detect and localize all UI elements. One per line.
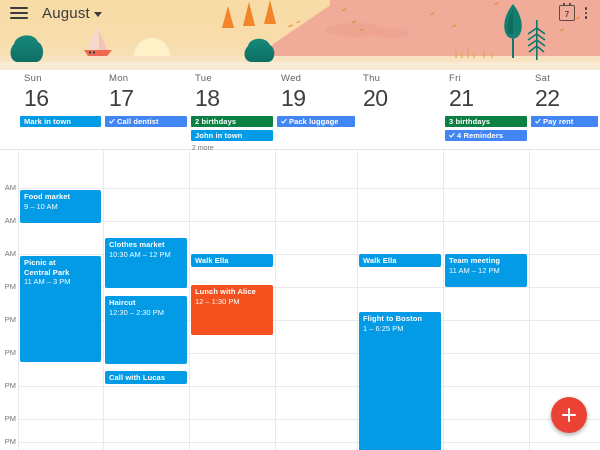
hour-gridline [18, 419, 600, 420]
hour-gridline [18, 221, 600, 222]
day-of-week-label: Sun [24, 70, 103, 85]
all-day-more-link[interactable]: 2 more [192, 145, 214, 152]
calendar-event[interactable]: Lunch with Alice12 – 1:30 PM [191, 285, 273, 335]
time-axis-label: AM [0, 250, 16, 258]
day-header-fri[interactable]: Fri21 [443, 70, 529, 112]
day-of-week-label: Mon [109, 70, 189, 85]
day-number-label: 18 [195, 85, 275, 112]
all-day-event-label: 4 Reminders [457, 131, 503, 140]
create-event-fab[interactable] [551, 397, 587, 433]
all-day-event-label: Call dentist [117, 117, 159, 126]
time-grid[interactable]: AMAMAMPMPMPMPMPMPMFood market9 – 10 AMPi… [0, 150, 600, 450]
calendar-event[interactable]: Team meeting11 AM – 12 PM [445, 254, 527, 287]
time-axis-label: PM [0, 415, 16, 423]
hour-gridline [18, 386, 600, 387]
event-title-line2: Central Park [24, 268, 98, 278]
all-day-event-label: 3 birthdays [449, 117, 490, 126]
day-column-divider [189, 150, 190, 450]
day-number-label: 17 [109, 85, 189, 112]
day-number-label: 21 [449, 85, 529, 112]
day-header-row: Sun16Mon17Tue18Wed19Thu20Fri21Sat22 [0, 70, 600, 114]
time-axis-label: PM [0, 382, 16, 390]
hour-gridline [18, 188, 600, 189]
calendar-event[interactable]: Call with Lucas [105, 371, 187, 384]
event-title: Picnic at [24, 258, 98, 268]
time-axis-label: PM [0, 316, 16, 324]
header-illustration: August 7 [0, 0, 600, 70]
month-title-label: August [42, 5, 90, 22]
day-header-mon[interactable]: Mon17 [103, 70, 189, 112]
event-title: Food market [24, 192, 98, 202]
task-icon [449, 132, 455, 139]
calendar-event[interactable]: Walk Ella [191, 254, 273, 267]
event-time-range: 11 AM – 12 PM [449, 266, 524, 276]
time-axis-label: PM [0, 283, 16, 291]
calendar-event[interactable]: Picnic atCentral Park11 AM – 3 PM [20, 256, 101, 362]
all-day-event-chip[interactable]: Call dentist [105, 116, 187, 127]
event-time-range: 1 – 6:25 PM [363, 324, 438, 334]
top-bar-actions: 7 [559, 4, 595, 22]
day-header-tue[interactable]: Tue18 [189, 70, 275, 112]
all-day-event-chip[interactable]: 4 Reminders [445, 130, 527, 141]
calendar-event[interactable]: Flight to Boston1 – 6:25 PM [359, 312, 441, 450]
time-axis-label: PM [0, 438, 16, 446]
event-title: Call with Lucas [109, 373, 184, 383]
day-number-label: 22 [535, 85, 600, 112]
time-axis-label: PM [0, 349, 16, 357]
calendar-event[interactable]: Clothes market10:30 AM – 12 PM [105, 238, 187, 288]
calendar-app: August 7 Sun16Mon17Tue18Wed19Thu20Fri21S… [0, 0, 600, 450]
day-of-week-label: Fri [449, 70, 529, 85]
time-axis-label: AM [0, 217, 16, 225]
all-day-event-chip[interactable]: John in town [191, 130, 273, 141]
event-title: Team meeting [449, 256, 524, 266]
task-icon [281, 118, 287, 125]
all-day-event-chip[interactable]: Pay rent [531, 116, 598, 127]
event-title: Lunch with Alice [195, 287, 270, 297]
day-of-week-label: Wed [281, 70, 357, 85]
all-day-event-label: Pay rent [543, 117, 573, 126]
day-of-week-label: Thu [363, 70, 443, 85]
event-time-range: 11 AM – 3 PM [24, 277, 98, 287]
day-column-divider [103, 150, 104, 450]
day-header-sat[interactable]: Sat22 [529, 70, 600, 112]
top-app-bar: August 7 [0, 0, 600, 26]
task-icon [109, 118, 115, 125]
today-calendar-icon[interactable]: 7 [559, 5, 575, 21]
day-header-sun[interactable]: Sun16 [18, 70, 103, 112]
day-number-label: 20 [363, 85, 443, 112]
day-of-week-label: Tue [195, 70, 275, 85]
month-title-button[interactable]: August [42, 5, 102, 22]
all-day-events-row: Mark in townCall dentist2 birthdaysJohn … [0, 114, 600, 150]
day-column-divider [529, 150, 530, 450]
event-title: Flight to Boston [363, 314, 438, 324]
all-day-event-chip[interactable]: 3 birthdays [445, 116, 527, 127]
all-day-event-label: Pack luggage [289, 117, 339, 126]
task-icon [535, 118, 541, 125]
event-time-range: 12 – 1:30 PM [195, 297, 270, 307]
day-number-label: 16 [24, 85, 103, 112]
calendar-event[interactable]: Haircut12:30 – 2:30 PM [105, 296, 187, 364]
all-day-event-label: John in town [195, 131, 242, 140]
event-title: Haircut [109, 298, 184, 308]
calendar-event[interactable]: Walk Ella [359, 254, 441, 267]
all-day-event-label: 2 birthdays [195, 117, 236, 126]
event-title: Walk Ella [363, 256, 438, 266]
day-column-divider [443, 150, 444, 450]
event-title: Clothes market [109, 240, 184, 250]
day-header-wed[interactable]: Wed19 [275, 70, 357, 112]
calendar-event[interactable]: Food market9 – 10 AM [20, 190, 101, 223]
all-day-event-chip[interactable]: Pack luggage [277, 116, 355, 127]
day-number-label: 19 [281, 85, 357, 112]
event-time-range: 9 – 10 AM [24, 202, 98, 212]
all-day-event-chip[interactable]: 2 birthdays [191, 116, 273, 127]
all-day-event-chip[interactable]: Mark in town [20, 116, 101, 127]
event-title: Walk Ella [195, 256, 270, 266]
event-time-range: 10:30 AM – 12 PM [109, 250, 184, 260]
time-axis-label: AM [0, 184, 16, 192]
hour-gridline [18, 442, 600, 443]
more-vertical-icon[interactable] [577, 4, 595, 22]
day-header-thu[interactable]: Thu20 [357, 70, 443, 112]
all-day-event-label: Mark in town [24, 117, 71, 126]
day-column-divider [275, 150, 276, 450]
day-of-week-label: Sat [535, 70, 600, 85]
today-date-number: 7 [565, 10, 569, 19]
day-column-divider [18, 150, 19, 450]
hamburger-menu-icon[interactable] [6, 3, 32, 23]
day-column-divider [357, 150, 358, 450]
event-time-range: 12:30 – 2:30 PM [109, 308, 184, 318]
chevron-down-icon [94, 12, 102, 17]
plus-icon-vertical [568, 408, 570, 422]
